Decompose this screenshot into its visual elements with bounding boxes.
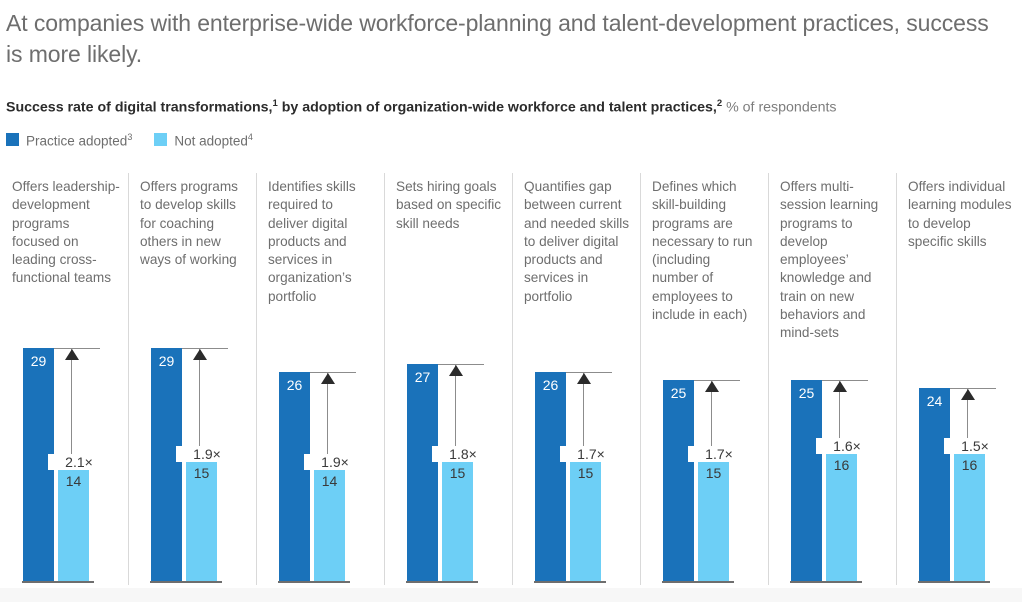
chart-page: At companies with enterprise-wide workfo… [0, 0, 1022, 602]
legend-item-not-adopted[interactable]: Not adopted4 [154, 130, 253, 149]
chart-legend: Practice adopted3 Not adopted4 [6, 130, 253, 149]
arrow-head-icon [193, 349, 207, 360]
bar-group: 24161.5× [896, 333, 1022, 583]
bar-group: 25161.6× [768, 333, 896, 583]
bar-value-not-adopted: 16 [954, 457, 985, 473]
ratio-arrow: 1.8× [438, 364, 484, 461]
chart-column: Sets hiring goals based on specific skil… [384, 168, 512, 588]
bar-not-adopted[interactable]: 15 [186, 460, 217, 581]
chart-column: Offers leadership-development programs f… [0, 168, 128, 588]
bar-group: 27151.8× [384, 333, 512, 583]
chart-column: Offers multi-session learning programs t… [768, 168, 896, 588]
bar-not-adopted[interactable]: 15 [698, 460, 729, 581]
bar-not-adopted[interactable]: 14 [314, 468, 345, 581]
bar-baseline [22, 581, 94, 583]
arrow-head-icon [961, 389, 975, 400]
bar-not-adopted[interactable]: 16 [954, 452, 985, 581]
bar-value-not-adopted: 15 [698, 465, 729, 481]
chart-column: Defines which skill-building programs ar… [640, 168, 768, 588]
category-label: Offers programs to develop skills for co… [140, 178, 248, 269]
category-label: Sets hiring goals based on specific skil… [396, 178, 504, 233]
legend-footnote-3: 3 [127, 132, 132, 142]
bar-practice-adopted[interactable]: 29 [151, 348, 182, 581]
bar-not-adopted[interactable]: 16 [826, 452, 857, 581]
bar-practice-adopted[interactable]: 24 [919, 388, 950, 581]
category-label: Defines which skill-building programs ar… [652, 178, 760, 324]
category-label: Offers multi-session learning programs t… [780, 178, 888, 343]
bar-value-adopted: 24 [919, 393, 950, 409]
legend-footnote-4: 4 [248, 132, 253, 142]
ratio-label: 1.9× [304, 454, 366, 470]
category-label: Offers individual learning modules to de… [908, 178, 1016, 251]
subtitle-part-1: Success rate of digital transformations, [6, 100, 272, 116]
bar-value-not-adopted: 15 [570, 465, 601, 481]
arrow-head-icon [321, 373, 335, 384]
bar-group: 29151.9× [128, 333, 256, 583]
ratio-label: 1.9× [176, 446, 238, 462]
bar-value-adopted: 29 [23, 353, 54, 369]
bar-group: 26141.9× [256, 333, 384, 583]
bar-value-not-adopted: 14 [58, 473, 89, 489]
bar-chart: Offers leadership-development programs f… [0, 168, 1022, 588]
legend-label-not-adopted: Not adopted4 [174, 130, 253, 149]
arrow-head-icon [833, 381, 847, 392]
chart-column: Offers programs to develop skills for co… [128, 168, 256, 588]
bar-value-adopted: 26 [535, 377, 566, 393]
bar-practice-adopted[interactable]: 27 [407, 364, 438, 581]
bar-value-adopted: 25 [663, 385, 694, 401]
subtitle-part-2: by adoption of organization-wide workfor… [278, 100, 717, 116]
ratio-arrow: 1.5× [950, 388, 996, 452]
bar-baseline [150, 581, 222, 583]
bar-value-not-adopted: 16 [826, 457, 857, 473]
page-title: At companies with enterprise-wide workfo… [6, 8, 996, 70]
category-label: Identifies skills required to deliver di… [268, 178, 376, 306]
category-label: Offers leadership-development programs f… [12, 178, 120, 288]
arrow-head-icon [577, 373, 591, 384]
legend-item-practice-adopted[interactable]: Practice adopted3 [6, 130, 132, 149]
arrow-head-icon [65, 349, 79, 360]
chart-subtitle: Success rate of digital transformations,… [6, 95, 1016, 117]
legend-label-practice-adopted: Practice adopted3 [26, 130, 132, 149]
arrow-stem-icon [71, 348, 72, 469]
bottom-band [0, 588, 1022, 602]
bar-baseline [918, 581, 990, 583]
category-label: Quantifies gap between current and neede… [524, 178, 632, 306]
bar-value-adopted: 26 [279, 377, 310, 393]
ratio-label: 1.6× [816, 438, 878, 454]
ratio-arrow: 1.7× [694, 380, 740, 461]
arrow-head-icon [449, 365, 463, 376]
ratio-label: 1.7× [560, 446, 622, 462]
subtitle-unit: % of respondents [722, 100, 836, 116]
legend-swatch-light-blue-icon [154, 133, 167, 146]
bar-practice-adopted[interactable]: 25 [791, 380, 822, 581]
bar-group: 29142.1× [0, 333, 128, 583]
bar-practice-adopted[interactable]: 26 [279, 372, 310, 581]
bar-baseline [662, 581, 734, 583]
bar-baseline [790, 581, 862, 583]
bar-value-adopted: 29 [151, 353, 182, 369]
bar-practice-adopted[interactable]: 25 [663, 380, 694, 581]
bar-baseline [406, 581, 478, 583]
bar-value-not-adopted: 15 [186, 465, 217, 481]
bar-value-adopted: 27 [407, 369, 438, 385]
ratio-arrow: 2.1× [54, 348, 100, 469]
chart-column: Offers individual learning modules to de… [896, 168, 1022, 588]
bar-baseline [278, 581, 350, 583]
bar-not-adopted[interactable]: 15 [442, 460, 473, 581]
bar-value-not-adopted: 15 [442, 465, 473, 481]
ratio-arrow: 1.6× [822, 380, 868, 452]
ratio-arrow: 1.7× [566, 372, 612, 461]
ratio-label: 1.7× [688, 446, 750, 462]
bar-not-adopted[interactable]: 15 [570, 460, 601, 581]
ratio-label: 2.1× [48, 454, 110, 470]
ratio-label: 1.5× [944, 438, 1006, 454]
bar-value-not-adopted: 14 [314, 473, 345, 489]
arrow-head-icon [705, 381, 719, 392]
bar-not-adopted[interactable]: 14 [58, 468, 89, 581]
arrow-stem-icon [199, 348, 200, 461]
bar-practice-adopted[interactable]: 26 [535, 372, 566, 581]
legend-swatch-dark-blue-icon [6, 133, 19, 146]
ratio-arrow: 1.9× [310, 372, 356, 469]
bar-group: 26151.7× [512, 333, 640, 583]
bar-value-adopted: 25 [791, 385, 822, 401]
chart-column: Identifies skills required to deliver di… [256, 168, 384, 588]
bar-group: 25151.7× [640, 333, 768, 583]
ratio-arrow: 1.9× [182, 348, 228, 461]
bar-baseline [534, 581, 606, 583]
ratio-label: 1.8× [432, 446, 494, 462]
chart-column: Quantifies gap between current and neede… [512, 168, 640, 588]
